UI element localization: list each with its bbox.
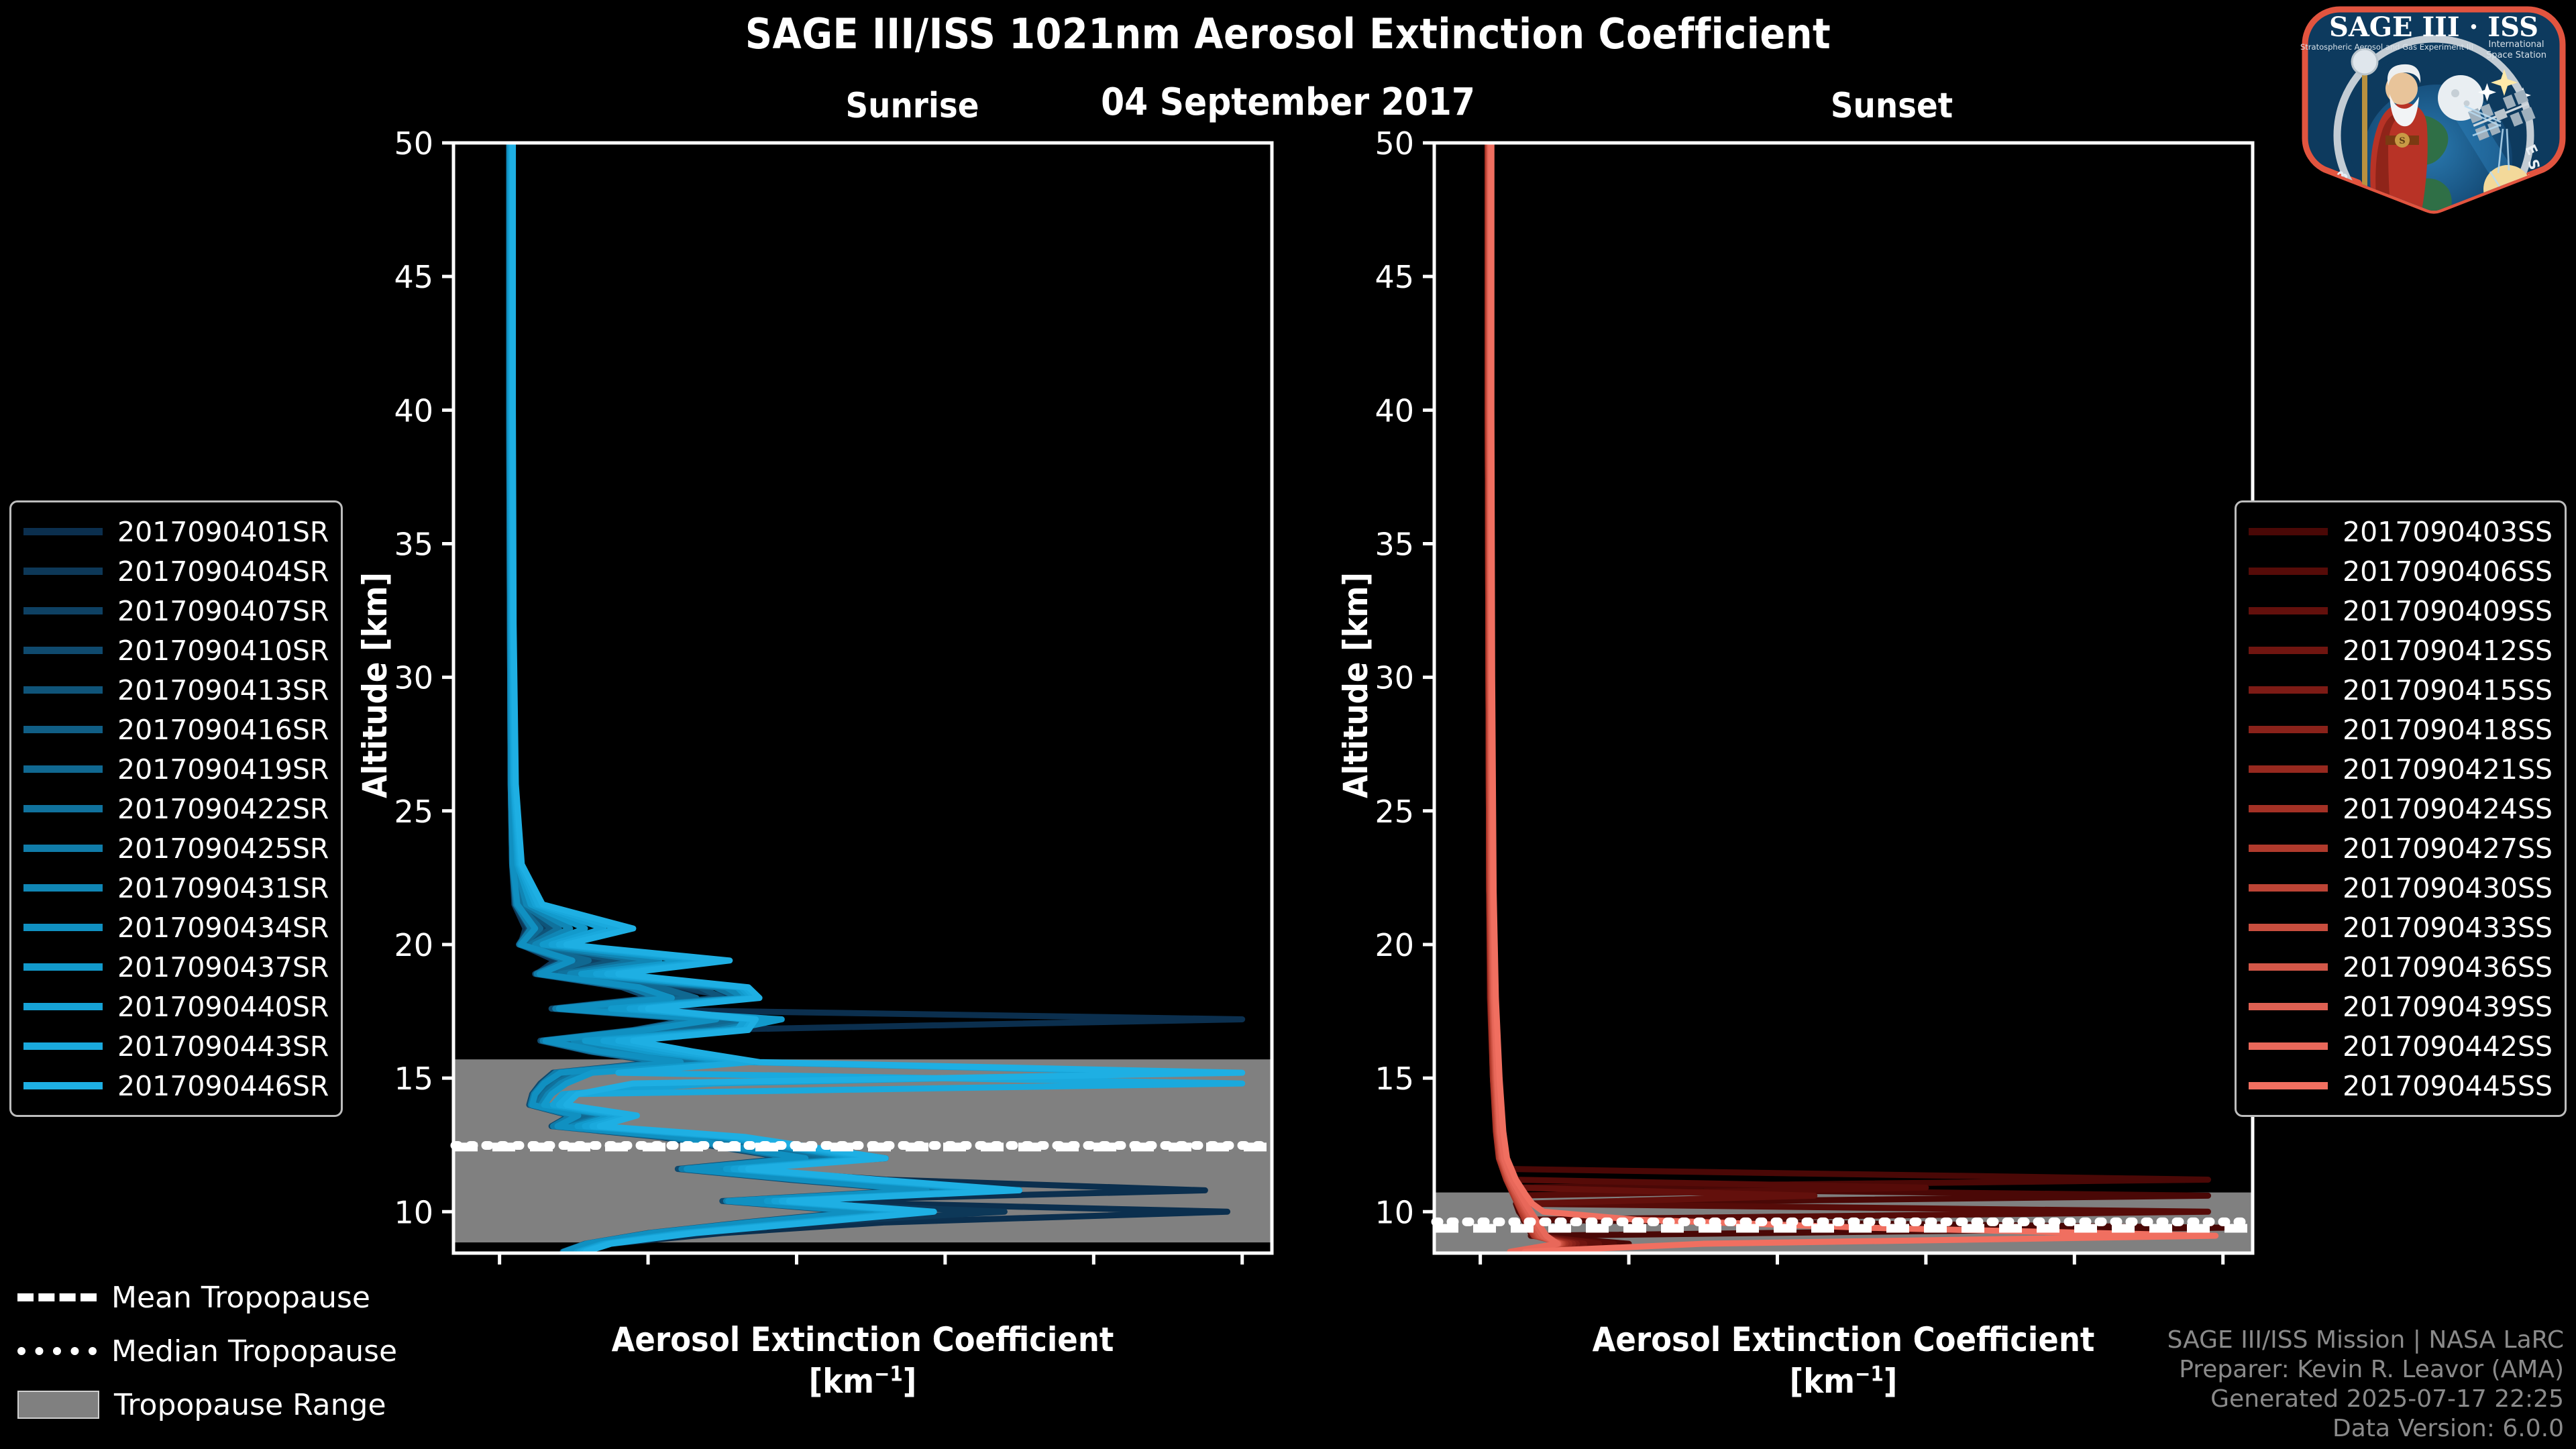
legend-color-swatch — [2249, 963, 2328, 971]
y-tick-label: 10 — [1375, 1194, 1414, 1230]
legend-color-swatch — [2249, 884, 2328, 892]
y-tick-label: 30 — [1375, 660, 1414, 696]
legend-color-swatch — [23, 1082, 103, 1089]
svg-text:L: L — [2363, 196, 2377, 214]
right-xaxis-label-line1: Aerosol Extinction Coefficient — [1434, 1320, 2253, 1359]
legend-color-swatch — [2249, 845, 2328, 852]
legend-item[interactable]: 2017090415SS — [2249, 670, 2553, 710]
legend-item[interactable]: 2017090434SR — [23, 908, 329, 947]
legend-color-swatch — [2249, 1042, 2328, 1050]
legend-item-label: 2017090436SS — [2343, 951, 2553, 983]
series-line — [1489, 143, 1815, 1252]
legend-item-label: 2017090425SR — [117, 833, 329, 865]
legend-item[interactable]: 2017090446SR — [23, 1066, 329, 1106]
y-tick-label: 15 — [1375, 1061, 1414, 1097]
legend-color-swatch — [23, 845, 103, 852]
y-tick-label: 20 — [1375, 927, 1414, 963]
y-tick-label: 25 — [1375, 794, 1414, 830]
legend-item-label: 2017090418SS — [2343, 714, 2553, 746]
credits-line-dataversion: Data Version: 6.0.0 — [2167, 1414, 2564, 1444]
svg-text:L: L — [2351, 189, 2367, 207]
y-tick-label: 10 — [394, 1194, 433, 1230]
legend-item-label: 2017090403SS — [2343, 516, 2553, 548]
legend-item[interactable]: 2017090437SR — [23, 947, 329, 987]
legend-color-swatch — [2249, 607, 2328, 614]
legend-color-swatch — [23, 568, 103, 575]
legend-color-swatch — [23, 924, 103, 931]
y-tick-label: 40 — [394, 392, 433, 429]
y-tick-label: 45 — [394, 259, 433, 295]
legend-item-label: 2017090424SS — [2343, 793, 2553, 825]
legend-item[interactable]: 2017090442SS — [2249, 1026, 2553, 1066]
y-tick-label: 15 — [394, 1061, 433, 1097]
legend-color-swatch — [2249, 568, 2328, 575]
legend-item[interactable]: 2017090436SS — [2249, 947, 2553, 987]
legend-item[interactable]: 2017090401SR — [23, 512, 329, 551]
legend-color-swatch — [2249, 686, 2328, 694]
tropopause-legend-item: Mean Tropopause — [17, 1271, 397, 1324]
legend-item-label: 2017090437SR — [117, 951, 329, 983]
right-xaxis-label-line2: [km−1] — [1434, 1362, 2253, 1401]
logo-subtitle-right-2: Space Station — [2486, 50, 2546, 60]
legend-item-label: 2017090421SS — [2343, 753, 2553, 786]
logo-subtitle-left: Stratospheric Aerosol and Gas Experiment… — [2300, 42, 2473, 52]
legend-item[interactable]: 2017090443SR — [23, 1026, 329, 1066]
left-yaxis-label: Altitude [km] — [356, 572, 394, 798]
legend-item-label: 2017090401SR — [117, 516, 329, 548]
legend-item-label: 2017090433SS — [2343, 912, 2553, 944]
tropopause-range-swatch — [17, 1391, 99, 1419]
left-xaxis-label-line1: Aerosol Extinction Coefficient — [453, 1320, 1272, 1359]
series-line — [1488, 143, 2208, 1252]
y-tick-label: 35 — [1375, 526, 1414, 562]
legend-item-label: 2017090427SS — [2343, 833, 2553, 865]
series-line — [1491, 143, 2215, 1252]
right-yaxis-label: Altitude [km] — [1336, 572, 1375, 798]
legend-color-swatch — [23, 884, 103, 892]
plot-frame — [1434, 143, 2253, 1253]
y-tick-label: 50 — [394, 125, 433, 162]
sunset-plot: 0.0000.0020.0040.0060.0080.0101015202530… — [979, 0, 2321, 1275]
legend-color-swatch — [2249, 528, 2328, 535]
legend-item[interactable]: 2017090403SS — [2249, 512, 2553, 551]
left-xaxis-label-line2: [km−1] — [453, 1362, 1272, 1401]
legend-color-swatch — [2249, 924, 2328, 931]
legend-item[interactable]: 2017090440SR — [23, 987, 329, 1026]
legend-item-label: 2017090404SR — [117, 555, 329, 588]
legend-item[interactable]: 2017090416SR — [23, 710, 329, 749]
sunrise-legend[interactable]: 2017090401SR2017090404SR2017090407SR2017… — [9, 500, 343, 1117]
legend-item[interactable]: 2017090430SS — [2249, 868, 2553, 908]
legend-color-swatch — [23, 726, 103, 733]
legend-item[interactable]: 2017090424SS — [2249, 789, 2553, 828]
y-tick-label: 45 — [1375, 259, 1414, 295]
tropopause-legend-item: Tropopause Range — [17, 1378, 397, 1432]
tropopause-legend-label: Median Tropopause — [111, 1334, 397, 1368]
legend-item-label: 2017090409SS — [2343, 595, 2553, 627]
legend-item[interactable]: 2017090425SR — [23, 828, 329, 868]
legend-item[interactable]: 2017090439SS — [2249, 987, 2553, 1026]
legend-item[interactable]: 2017090404SR — [23, 551, 329, 591]
legend-item[interactable]: 2017090419SR — [23, 749, 329, 789]
sunset-legend[interactable]: 2017090403SS2017090406SS2017090409SS2017… — [2235, 500, 2567, 1117]
y-tick-label: 30 — [394, 660, 433, 696]
legend-item-label: 2017090415SS — [2343, 674, 2553, 706]
legend-color-swatch — [23, 607, 103, 614]
legend-item[interactable]: 2017090421SS — [2249, 749, 2553, 789]
sage-iii-iss-mission-patch-logo: S B A L L E S A T A S SAGE III · ISS Str… — [2300, 4, 2568, 217]
legend-item[interactable]: 2017090409SS — [2249, 591, 2553, 631]
legend-item[interactable]: 2017090427SS — [2249, 828, 2553, 868]
credits-line-preparer: Preparer: Kevin R. Leavor (AMA) — [2167, 1355, 2564, 1385]
y-tick-label: 25 — [394, 794, 433, 830]
legend-item-label: 2017090443SR — [117, 1030, 329, 1063]
legend-item-label: 2017090416SR — [117, 714, 329, 746]
tropopause-legend-label: Tropopause Range — [114, 1388, 386, 1422]
legend-color-swatch — [23, 1003, 103, 1010]
legend-item-label: 2017090406SS — [2343, 555, 2553, 588]
legend-color-swatch — [23, 1042, 103, 1050]
legend-item-label: 2017090410SR — [117, 635, 329, 667]
y-tick-label: 20 — [394, 927, 433, 963]
legend-item[interactable]: 2017090407SR — [23, 591, 329, 631]
legend-color-swatch — [2249, 647, 2328, 654]
legend-item[interactable]: 2017090406SS — [2249, 551, 2553, 591]
legend-item[interactable]: 2017090445SS — [2249, 1066, 2553, 1106]
y-tick-label: 40 — [1375, 392, 1414, 429]
legend-item-label: 2017090431SR — [117, 872, 329, 904]
legend-item[interactable]: 2017090431SR — [23, 868, 329, 908]
series-line — [1488, 143, 2223, 1252]
legend-color-swatch — [23, 805, 103, 812]
legend-color-swatch — [23, 765, 103, 773]
tropopause-legend-item: Median Tropopause — [17, 1324, 397, 1378]
tropopause-legend: Mean TropopauseMedian TropopauseTropopau… — [17, 1271, 397, 1432]
svg-text:S: S — [2399, 136, 2405, 146]
legend-color-swatch — [23, 963, 103, 971]
legend-item[interactable]: 2017090413SR — [23, 670, 329, 710]
legend-item-label: 2017090419SR — [117, 753, 329, 786]
legend-color-swatch — [2249, 1003, 2328, 1010]
legend-item-label: 2017090440SR — [117, 991, 329, 1023]
legend-item-label: 2017090412SS — [2343, 635, 2553, 667]
svg-text:A: A — [2505, 186, 2524, 205]
legend-item[interactable]: 2017090412SS — [2249, 631, 2553, 670]
legend-item-label: 2017090422SR — [117, 793, 329, 825]
legend-color-swatch — [2249, 1082, 2328, 1089]
median-tropopause-line-swatch — [17, 1347, 97, 1355]
credits-block: SAGE III/ISS Mission | NASA LaRC Prepare… — [2167, 1326, 2564, 1444]
y-tick-label: 50 — [1375, 125, 1414, 162]
legend-item[interactable]: 2017090418SS — [2249, 710, 2553, 749]
mean-tropopause-line-swatch — [17, 1293, 97, 1301]
legend-item[interactable]: 2017090422SR — [23, 789, 329, 828]
legend-item-label: 2017090434SR — [117, 912, 329, 944]
logo-title: SAGE III · ISS — [2329, 11, 2538, 43]
legend-item[interactable]: 2017090433SS — [2249, 908, 2553, 947]
legend-color-swatch — [2249, 726, 2328, 733]
y-tick-label: 35 — [394, 526, 433, 562]
credits-line-mission: SAGE III/ISS Mission | NASA LaRC — [2167, 1326, 2564, 1355]
logo-subtitle-right-1: International — [2489, 40, 2544, 50]
legend-item-label: 2017090445SS — [2343, 1070, 2553, 1102]
legend-color-swatch — [23, 686, 103, 694]
legend-item-label: 2017090442SS — [2343, 1030, 2553, 1063]
legend-color-swatch — [2249, 805, 2328, 812]
legend-item[interactable]: 2017090410SR — [23, 631, 329, 670]
tropopause-legend-label: Mean Tropopause — [111, 1281, 370, 1315]
svg-text:S: S — [2498, 195, 2517, 213]
legend-color-swatch — [2249, 765, 2328, 773]
legend-item-label: 2017090430SS — [2343, 872, 2553, 904]
legend-item-label: 2017090446SR — [117, 1070, 329, 1102]
legend-item-label: 2017090413SR — [117, 674, 329, 706]
legend-item-label: 2017090439SS — [2343, 991, 2553, 1023]
credits-line-generated: Generated 2025-07-17 22:25 — [2167, 1385, 2564, 1414]
legend-color-swatch — [23, 528, 103, 535]
legend-color-swatch — [23, 647, 103, 654]
legend-item-label: 2017090407SR — [117, 595, 329, 627]
